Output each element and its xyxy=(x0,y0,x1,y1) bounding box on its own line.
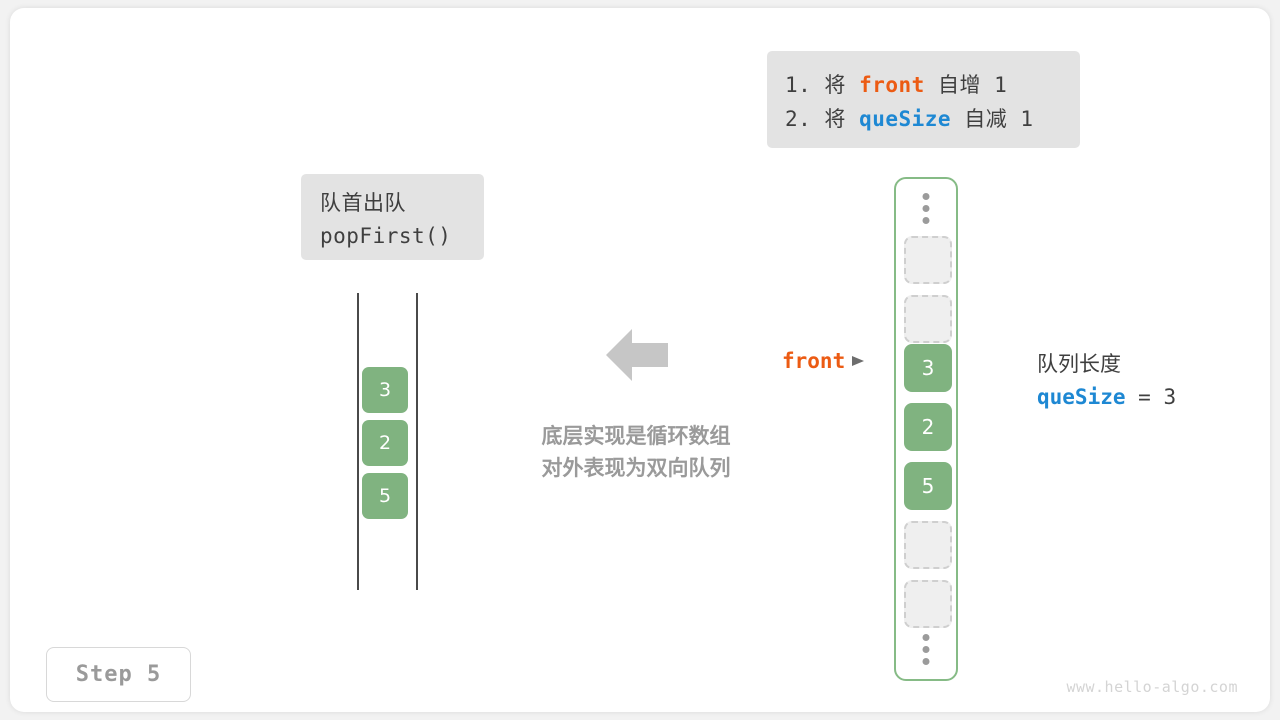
queue-size-equals: = xyxy=(1126,385,1164,409)
instruction-line-2: 2. 将 queSize 自减 1 xyxy=(785,102,1080,136)
center-caption: 底层实现是循环数组 对外表现为双向队列 xyxy=(508,420,764,484)
center-caption-line-2: 对外表现为双向队列 xyxy=(508,452,764,484)
step-badge: Step 5 xyxy=(46,647,191,702)
operation-method-name: popFirst() xyxy=(320,220,484,253)
instruction-box: 1. 将 front 自增 1 2. 将 queSize 自减 1 xyxy=(767,51,1080,148)
watermark: www.hello-algo.com xyxy=(1066,678,1238,696)
center-caption-line-1: 底层实现是循环数组 xyxy=(508,420,764,452)
operation-title: 队首出队 xyxy=(320,187,484,220)
queue-size-var: queSize xyxy=(1037,385,1126,409)
circular-array-container: 3 2 5 xyxy=(894,177,958,681)
instruction-line-1-keyword: front xyxy=(859,73,925,97)
array-slot xyxy=(904,521,952,569)
instruction-line-1-prefix: 1. 将 xyxy=(785,73,859,97)
screenshot-canvas: 1. 将 front 自增 1 2. 将 queSize 自减 1 队首出队 p… xyxy=(0,0,1280,720)
instruction-line-1-suffix: 自增 1 xyxy=(925,73,1007,97)
instruction-line-2-keyword: queSize xyxy=(859,107,951,131)
ellipsis-top-icon xyxy=(923,193,930,224)
ellipsis-bottom-icon xyxy=(923,634,930,665)
page-surface: 1. 将 front 自增 1 2. 将 queSize 自减 1 队首出队 p… xyxy=(10,8,1270,712)
instruction-line-2-prefix: 2. 将 xyxy=(785,107,859,131)
array-slot: 3 xyxy=(904,344,952,392)
left-arrow-icon xyxy=(606,328,668,382)
queue-cell: 3 xyxy=(362,367,408,413)
queue-size-label: 队列长度 xyxy=(1037,348,1176,380)
queue-rail-right xyxy=(416,293,418,590)
queue-size-expression: queSize = 3 xyxy=(1037,380,1176,414)
queue-size-info: 队列长度 queSize = 3 xyxy=(1037,348,1176,414)
queue-rail-left xyxy=(357,293,359,590)
queue-cell: 5 xyxy=(362,473,408,519)
array-slot xyxy=(904,295,952,343)
array-slot xyxy=(904,236,952,284)
instruction-line-1: 1. 将 front 自增 1 xyxy=(785,68,1080,102)
instruction-line-2-suffix: 自减 1 xyxy=(951,107,1033,131)
pointer-arrow-icon xyxy=(851,354,865,368)
array-slot: 2 xyxy=(904,403,952,451)
array-slot xyxy=(904,580,952,628)
queue-cell: 2 xyxy=(362,420,408,466)
queue-size-value: 3 xyxy=(1163,385,1176,409)
front-pointer: front xyxy=(782,349,865,373)
array-slot: 5 xyxy=(904,462,952,510)
operation-label-box: 队首出队 popFirst() xyxy=(301,174,484,260)
front-pointer-label: front xyxy=(782,349,845,373)
